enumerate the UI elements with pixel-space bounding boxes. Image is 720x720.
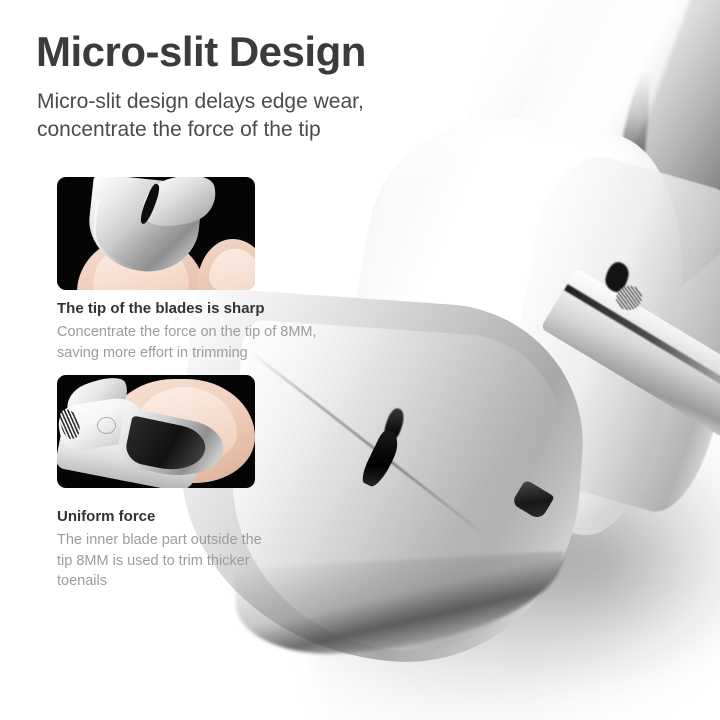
feature-1-title: The tip of the blades is sharp (57, 300, 265, 317)
page-title: Micro-slit Design (36, 30, 366, 74)
feature-image-nipper-trimming-toenail (57, 375, 255, 488)
handle-embossed-circle (97, 417, 116, 434)
product-feature-page: Micro-slit Design Micro-slit design dela… (0, 0, 720, 720)
feature-2-title: Uniform force (57, 508, 155, 525)
page-subtitle: Micro-slit design delays edge wear, conc… (37, 88, 364, 145)
feature-2-body: The inner blade part outside the tip 8MM… (57, 530, 262, 592)
feature-1-body: Concentrate the force on the tip of 8MM,… (57, 322, 317, 363)
feature-image-blade-tip-on-fingernail (57, 177, 255, 290)
